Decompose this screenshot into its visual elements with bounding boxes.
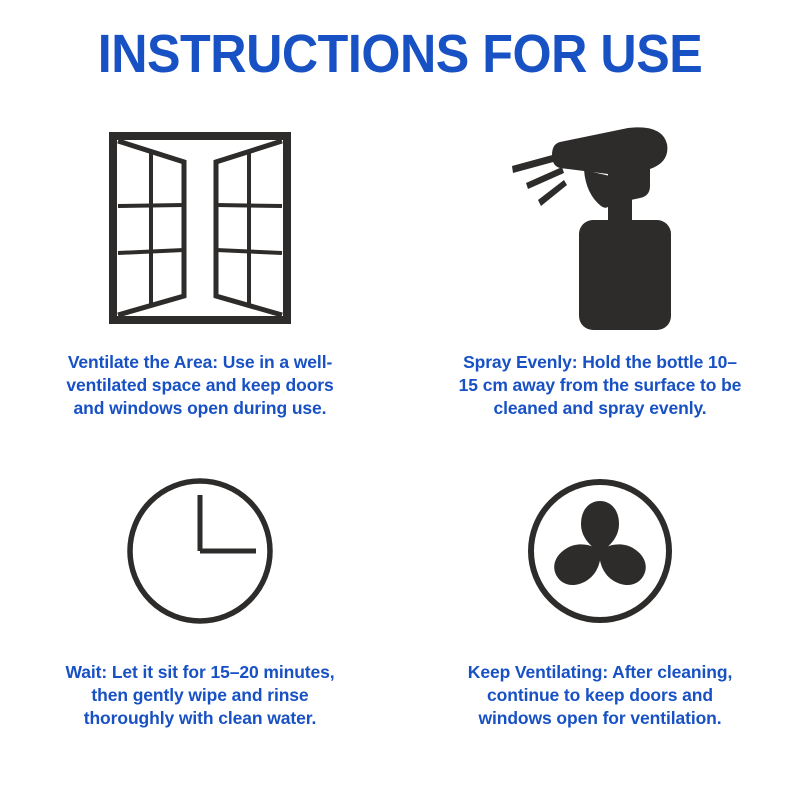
- step-item-wait: Wait: Let it sit for 15–20 minutes, then…: [0, 450, 400, 770]
- spray-bottle-icon: [500, 120, 700, 335]
- step-item-ventilate: Ventilate the Area: Use in a well-ventil…: [0, 120, 400, 450]
- step-item-keep-ventilating: Keep Ventilating: After cleaning, contin…: [400, 450, 800, 770]
- step-caption: Wait: Let it sit for 15–20 minutes, then…: [50, 661, 350, 730]
- steps-grid: Ventilate the Area: Use in a well-ventil…: [0, 120, 800, 770]
- clock-icon: [118, 468, 283, 633]
- open-window-icon: [100, 120, 300, 335]
- step-item-spray: Spray Evenly: Hold the bottle 10–15 cm a…: [400, 120, 800, 450]
- page-title: INSTRUCTIONS FOR USE: [28, 26, 772, 83]
- step-caption: Keep Ventilating: After cleaning, contin…: [458, 661, 743, 730]
- ventilation-fan-icon: [518, 468, 683, 633]
- step-caption: Spray Evenly: Hold the bottle 10–15 cm a…: [458, 351, 743, 420]
- instructions-infographic: INSTRUCTIONS FOR USE: [0, 0, 800, 800]
- step-caption: Ventilate the Area: Use in a well-ventil…: [50, 351, 350, 420]
